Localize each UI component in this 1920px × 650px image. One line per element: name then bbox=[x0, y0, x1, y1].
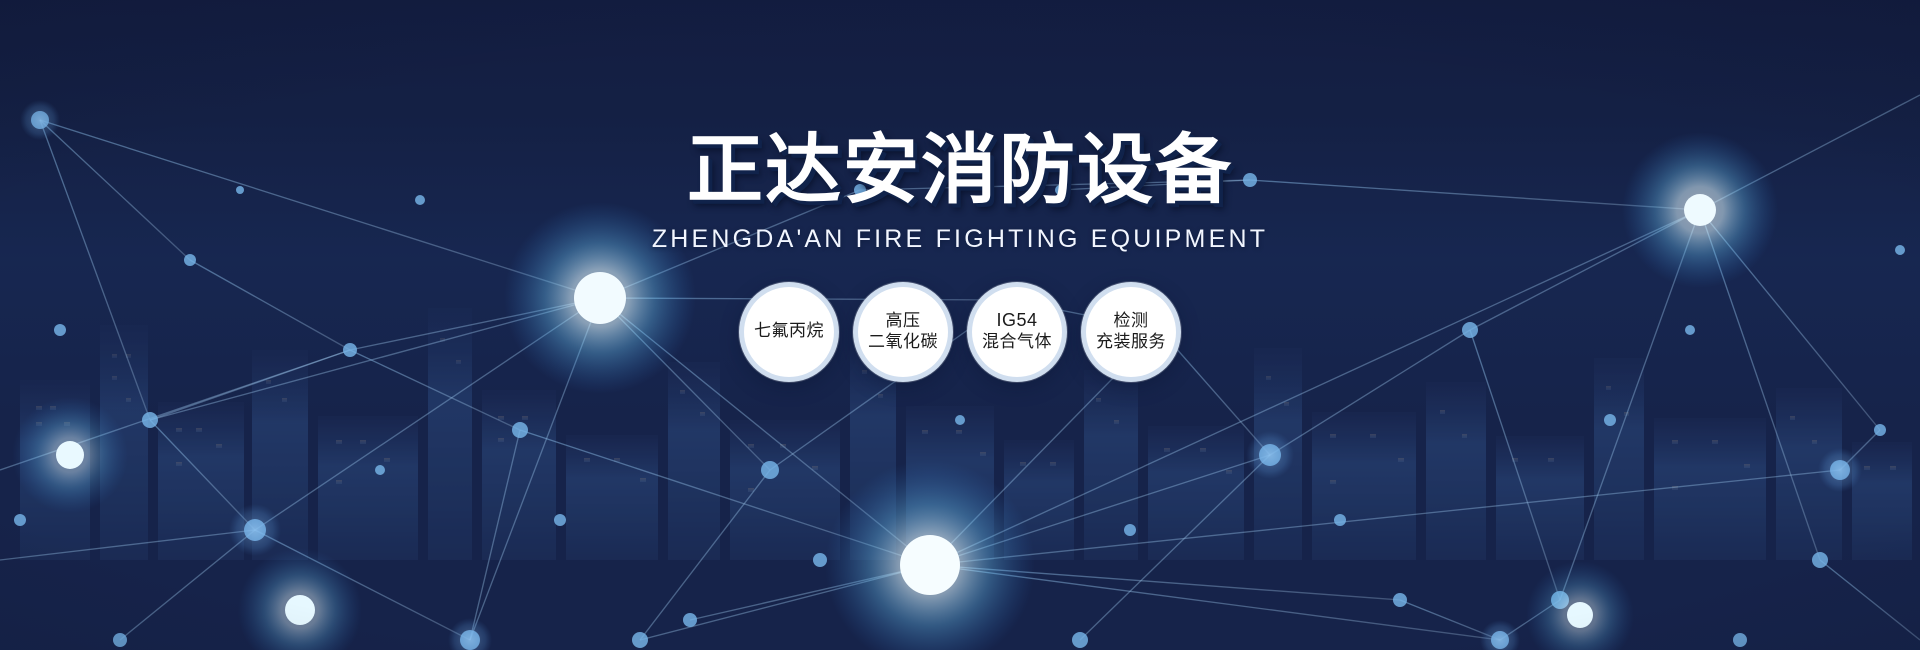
badge-line-2: 充装服务 bbox=[1096, 332, 1166, 353]
page-title: 正达安消防设备 bbox=[687, 130, 1233, 211]
badge-line-1: 高压 bbox=[886, 311, 921, 332]
banner-content: 正达安消防设备 ZHENGDA'AN FIRE FIGHTING EQUIPME… bbox=[0, 0, 1920, 650]
product-badge-row: 七氟丙烷 高压 二氧化碳 IG54 混合气体 检测 充装服务 bbox=[739, 282, 1181, 382]
badge-line-1: 检测 bbox=[1114, 311, 1149, 332]
badge-heptafluoropropane[interactable]: 七氟丙烷 bbox=[739, 282, 839, 382]
page-subtitle: ZHENGDA'AN FIRE FIGHTING EQUIPMENT bbox=[652, 225, 1268, 254]
badge-line-1: 七氟丙烷 bbox=[754, 321, 824, 342]
badge-inspection-filling-service[interactable]: 检测 充装服务 bbox=[1081, 282, 1181, 382]
badge-ig54-mixed-gas[interactable]: IG54 混合气体 bbox=[967, 282, 1067, 382]
badge-line-2: 二氧化碳 bbox=[868, 332, 938, 353]
badge-line-2: 混合气体 bbox=[982, 332, 1052, 353]
badge-line-1: IG54 bbox=[996, 310, 1037, 332]
hero-banner: 正达安消防设备 ZHENGDA'AN FIRE FIGHTING EQUIPME… bbox=[0, 0, 1920, 650]
badge-high-pressure-co2[interactable]: 高压 二氧化碳 bbox=[853, 282, 953, 382]
